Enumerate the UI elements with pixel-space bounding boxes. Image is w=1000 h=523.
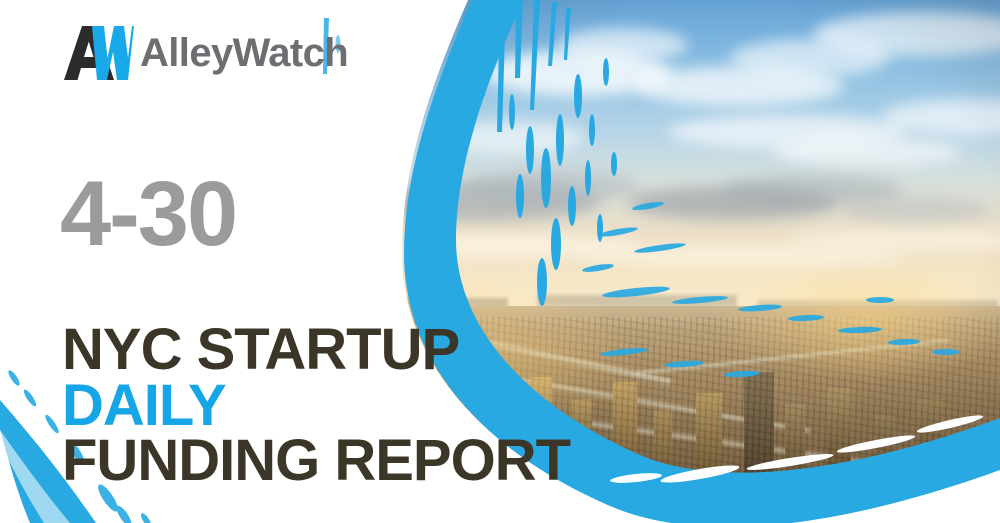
logo-wordmark: AlleyWatch — [140, 33, 348, 73]
headline-line-2: DAILY — [62, 378, 570, 434]
headline-line-3: FUNDING REPORT — [62, 433, 570, 489]
aw-monogram-svg — [62, 22, 134, 84]
date-label: 4-30 — [60, 168, 236, 260]
headline-block: NYC STARTUP DAILY FUNDING REPORT — [62, 322, 570, 489]
alleywatch-logo[interactable]: AlleyWatch — [62, 22, 348, 84]
brush-splatter-city — [582, 200, 960, 378]
alleywatch-funding-report-banner: AlleyWatch 4-30 NYC STARTUP DAILY FUNDIN… — [0, 0, 1000, 523]
logo-letter-w — [92, 26, 134, 80]
brush-splatter-top — [481, 0, 617, 306]
aw-monogram-icon — [62, 22, 134, 84]
headline-line-1: NYC STARTUP — [62, 322, 570, 378]
